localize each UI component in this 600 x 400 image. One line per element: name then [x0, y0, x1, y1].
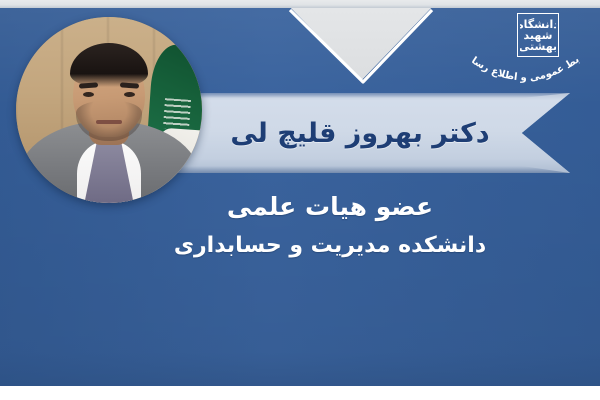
avatar: [16, 17, 202, 203]
person-name: دکتر بهروز قلیچ لی: [160, 93, 560, 173]
logo-line-2: شهید: [524, 30, 553, 41]
logo-line-1: دانشگاه: [520, 19, 556, 30]
portrait-photo: [16, 17, 202, 203]
faculty-name: دانشکده مدیریت و حسابداری: [120, 230, 540, 262]
eye-right: [124, 92, 135, 97]
eye-left: [83, 92, 94, 97]
logo-caption-arc: روابط عمومی و اطلاع رسانی: [467, 54, 585, 94]
logo-calligraphy: دانشگاه شهید بهشتی: [520, 16, 556, 54]
logo-caption-text: روابط عمومی و اطلاع رسانی: [467, 54, 582, 84]
hair: [70, 43, 148, 87]
logo-line-3: بهشتی: [520, 41, 556, 52]
flag-kufic-script: [163, 98, 191, 130]
profile-card: دکتر بهروز قلیچ لی عضو هیات علمی دانشکده…: [0, 0, 600, 400]
mouth: [96, 120, 122, 124]
logo-frame-icon: دانشگاه شهید بهشتی: [517, 13, 559, 57]
university-logo: دانشگاه شهید بهشتی روابط عمومی و اطلاع ر…: [465, 8, 590, 96]
